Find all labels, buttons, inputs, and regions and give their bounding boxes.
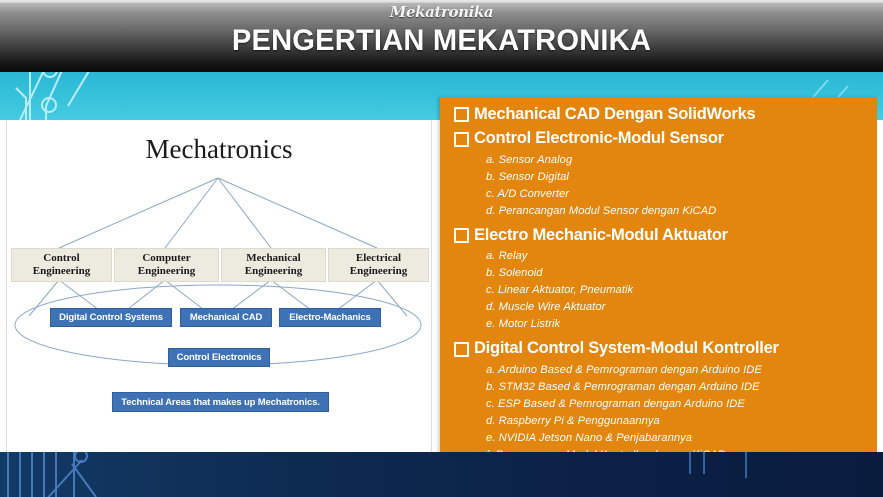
syllabus-heading-control-electronic: Control Electronic-Modul Sensor [454, 127, 877, 150]
syllabus-item: e. Motor Listrik [486, 316, 877, 333]
syllabus-item: b. Sensor Digital [486, 169, 877, 186]
diagram-caption: Technical Areas that makes up Mechatroni… [112, 392, 329, 412]
syllabus-heading-electro-mechanic: Electro Mechanic-Modul Aktuator [454, 224, 877, 247]
page-title: PENGERTIAN MEKATRONIKA [13, 24, 870, 58]
brand-script-label: Mekatronika [0, 3, 883, 21]
topic-box-electro-machanics[interactable]: Electro-Machanics [279, 308, 381, 327]
engineering-box-line2: Engineering [138, 265, 195, 278]
syllabus-heading-label: Mechanical CAD Dengan SolidWorks [474, 103, 755, 126]
mechatronics-diagram: Mechatronics [7, 120, 431, 452]
syllabus-item: d. Muscle Wire Aktuator [486, 299, 877, 316]
slide-header: Mekatronika PENGERTIAN MEKATRONIKA [0, 0, 883, 72]
syllabus-heading-label: Control Electronic-Modul Sensor [474, 127, 724, 150]
topic-box-control-electronics[interactable]: Control Electronics [168, 348, 270, 367]
syllabus-item: a. Sensor Analog [486, 152, 877, 169]
slide-root: Mekatronika PENGERTIAN MEKATRONIKA [0, 0, 883, 497]
engineering-box-mechanical: Mechanical Engineering [221, 248, 326, 282]
engineering-box-line1: Mechanical [246, 252, 300, 265]
syllabus-heading-label: Digital Control System-Modul Kontroller [474, 337, 779, 360]
engineering-box-computer: Computer Engineering [114, 248, 219, 282]
engineering-box-line2: Engineering [245, 265, 302, 278]
diagram-card: Mechatronics [6, 120, 432, 453]
syllabus-item: e. NVIDIA Jetson Nano & Penjabarannya [486, 430, 877, 447]
navy-circuit-band [0, 452, 883, 497]
syllabus-item: d. Raspberry Pi & Penggunaannya [486, 413, 877, 430]
engineering-box-line2: Engineering [33, 265, 90, 278]
topic-box-mechanical-cad[interactable]: Mechanical CAD [180, 308, 272, 327]
syllabus-item: c. A/D Converter [486, 186, 877, 203]
syllabus-heading-label: Electro Mechanic-Modul Aktuator [474, 224, 728, 247]
engineering-box-electrical: Electrical Engineering [328, 248, 429, 282]
syllabus-heading-mechanical-cad: Mechanical CAD Dengan SolidWorks [454, 103, 877, 126]
engineering-box-control: Control Engineering [11, 248, 112, 282]
checkbox-icon [454, 228, 469, 243]
syllabus-panel: Mechanical CAD Dengan SolidWorks Control… [440, 97, 877, 477]
engineering-box-line1: Computer [142, 252, 190, 265]
topic-box-digital-control-systems[interactable]: Digital Control Systems [50, 308, 172, 327]
engineering-box-line1: Control [43, 252, 79, 265]
syllabus-item: a. Relay [486, 248, 877, 265]
checkbox-icon [454, 107, 469, 122]
syllabus-item: b. STM32 Based & Pemrograman dengan Ardu… [486, 379, 877, 396]
syllabus-item: b. Solenoid [486, 265, 877, 282]
engineering-box-line2: Engineering [350, 265, 407, 278]
circuit-trace-decoration-bottom [0, 452, 883, 497]
syllabus-item: c. Linear Aktuator, Pneumatik [486, 282, 877, 299]
syllabus-heading-digital-control-system: Digital Control System-Modul Kontroller [454, 337, 877, 360]
syllabus-item: c. ESP Based & Pemrograman dengan Arduin… [486, 396, 877, 413]
checkbox-icon [454, 342, 469, 357]
syllabus-item: a. Arduino Based & Pemrograman dengan Ar… [486, 362, 877, 379]
engineering-box-line1: Electrical [356, 252, 401, 265]
syllabus-item: d. Perancangan Modul Sensor dengan KiCAD [486, 203, 877, 220]
checkbox-icon [454, 132, 469, 147]
